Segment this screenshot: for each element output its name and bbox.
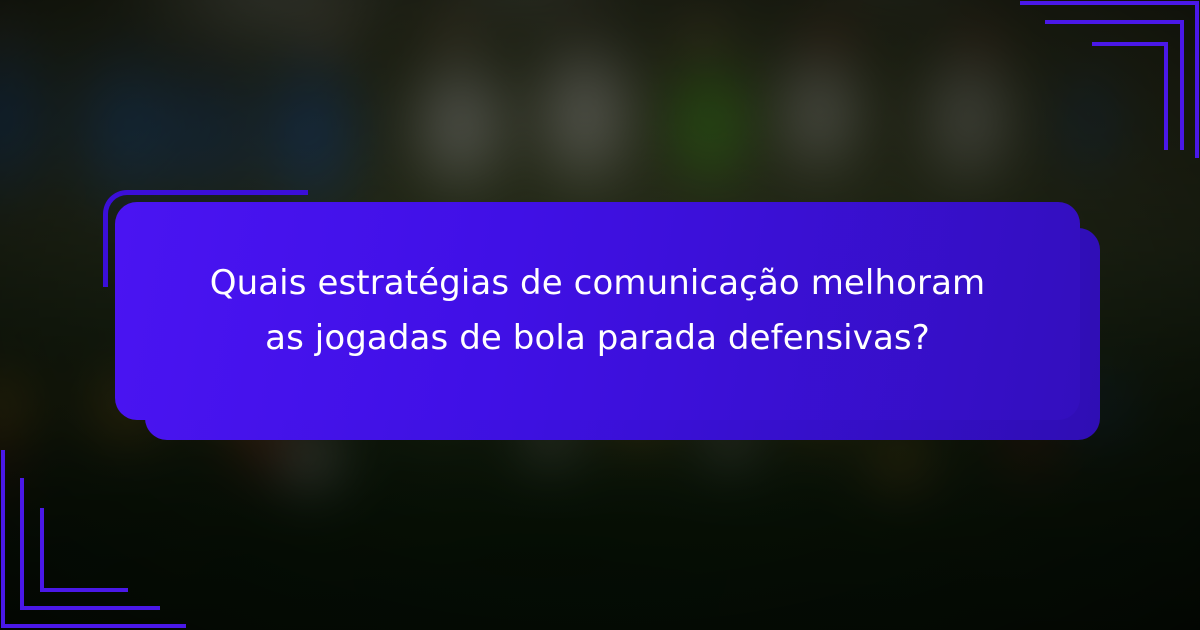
headline-card: Quais estratégias de comunicação melhora… bbox=[115, 202, 1080, 420]
page-title: Quais estratégias de comunicação melhora… bbox=[115, 256, 1080, 366]
headline-line-1: Quais estratégias de comunicação melhora… bbox=[167, 256, 1028, 311]
poster-canvas: Quais estratégias de comunicação melhora… bbox=[0, 0, 1200, 630]
headline-line-2: as jogadas de bola parada defensivas? bbox=[167, 311, 1028, 366]
